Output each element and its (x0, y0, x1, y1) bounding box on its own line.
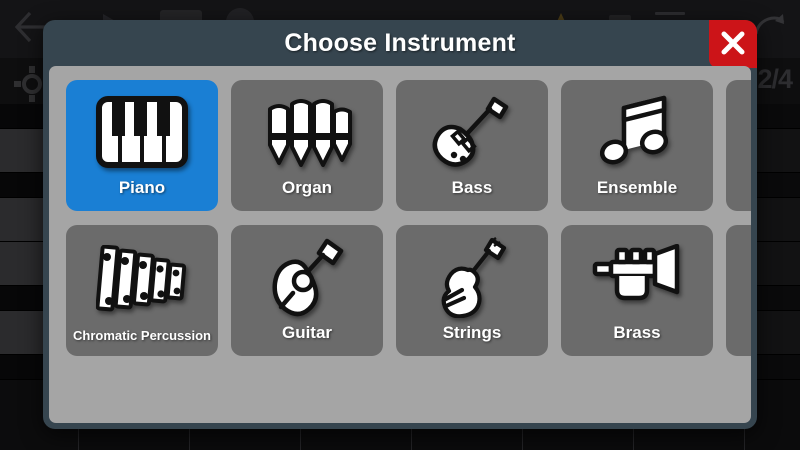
instrument-tile-violin[interactable]: Strings (396, 225, 548, 356)
trumpet-icon (561, 225, 713, 323)
instrument-tile-grid: Piano Organ Bass Ensemble Re (66, 80, 751, 356)
dialog-header: Choose Instrument (43, 20, 757, 66)
instrument-tile-xylophone[interactable]: Chromatic Percussion (66, 225, 218, 356)
xylophone-icon (66, 225, 218, 328)
instrument-tile-bass-guitar[interactable]: Bass (396, 80, 548, 211)
instrument-tile-flute[interactable]: Pi (726, 225, 751, 356)
choose-instrument-dialog: Choose Instrument Piano Organ Bass (43, 20, 757, 429)
violin-icon (396, 225, 548, 323)
instrument-label: Bass (452, 178, 493, 211)
instrument-tile-clarinet[interactable]: Re (726, 80, 751, 211)
clarinet-icon (726, 80, 751, 178)
instrument-label: Organ (282, 178, 332, 211)
instrument-tile-music-notes[interactable]: Ensemble (561, 80, 713, 211)
instrument-tile-trumpet[interactable]: Brass (561, 225, 713, 356)
acoustic-guitar-icon (231, 225, 383, 323)
piano-icon (66, 80, 218, 178)
modal-overlay: Choose Instrument Piano Organ Bass (0, 0, 800, 450)
close-button[interactable] (709, 20, 757, 68)
instrument-label: Chromatic Percussion (73, 328, 211, 356)
dialog-body: Piano Organ Bass Ensemble Re (49, 66, 751, 423)
instrument-label: Guitar (282, 323, 332, 356)
bass-guitar-icon (396, 80, 548, 178)
music-notes-icon (561, 80, 713, 178)
instrument-tile-organ[interactable]: Organ (231, 80, 383, 211)
dialog-title: Choose Instrument (284, 29, 515, 58)
close-icon (719, 29, 747, 57)
instrument-label: Ensemble (597, 178, 677, 211)
instrument-label: Strings (443, 323, 502, 356)
instrument-label: Piano (119, 178, 165, 211)
instrument-tile-piano[interactable]: Piano (66, 80, 218, 211)
instrument-label: Brass (613, 323, 660, 356)
flute-icon (726, 225, 751, 323)
organ-icon (231, 80, 383, 178)
instrument-tile-acoustic-guitar[interactable]: Guitar (231, 225, 383, 356)
